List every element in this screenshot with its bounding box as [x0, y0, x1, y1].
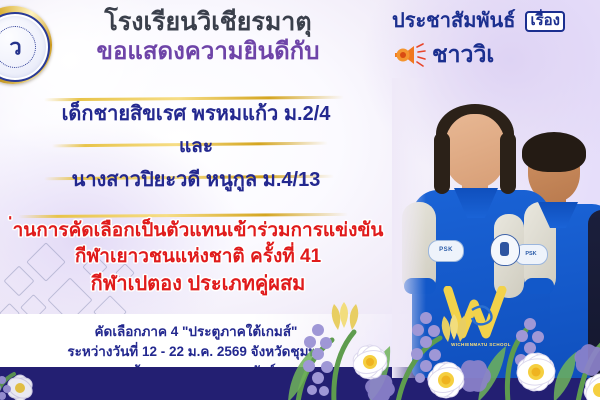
- honoree-names: เด็กชายสิขเรศ พรหมแก้ว ม.2/4 และ นางสาวป…: [0, 104, 392, 191]
- school-name: โรงเรียนวิเชียรมาตุ: [58, 8, 358, 36]
- school-seal-glyph: ว: [0, 30, 48, 65]
- female-hair-right: [500, 132, 516, 194]
- pr-banner-row-top: ประชาสัมพันธ์เรื่อง: [392, 10, 600, 34]
- pr-label: ประชาสัมพันธ์: [392, 10, 515, 32]
- honoree-one: เด็กชายสิขเรศ พรหมแก้ว ม.2/4: [0, 104, 392, 125]
- female-jersey-patch: PSK: [428, 240, 464, 262]
- pr-topic-tag: เรื่อง: [525, 11, 565, 32]
- male-hair: [522, 132, 586, 172]
- flower-decoration-left: [0, 362, 50, 400]
- female-hair-left: [434, 132, 450, 194]
- congratulations-poster: ว โรงเรียนวิเชียรมาตุ ขอแสดงความยินดีกับ…: [0, 0, 600, 400]
- honoree-conjunction: และ: [0, 137, 392, 156]
- female-head: [444, 114, 506, 188]
- female-jersey-crest: [490, 234, 520, 266]
- honoree-two: นางสาวปิยะวดี หนูกูล ม.4/13: [0, 170, 392, 191]
- achievement-line-1: ่านการคัดเลือกเป็นตัวแทนเข้าร่วมการแข่งข…: [0, 220, 408, 242]
- congratulations-line: ขอแสดงความยินดีกับ: [58, 38, 358, 66]
- flower-decoration-right: [278, 284, 600, 400]
- pr-banner: ประชาสัมพันธ์เรื่อง ชาววิเ: [392, 10, 600, 68]
- pr-banner-row-bottom: ชาววิเ: [392, 42, 600, 68]
- poster-header: โรงเรียนวิเชียรมาตุ ขอแสดงความยินดีกับ: [58, 8, 358, 66]
- pr-audience: ชาววิเ: [432, 43, 494, 66]
- achievement-line-2: กีฬาเยาวชนแห่งชาติ ครั้งที่ 41: [0, 246, 408, 268]
- megaphone-icon: [392, 42, 426, 68]
